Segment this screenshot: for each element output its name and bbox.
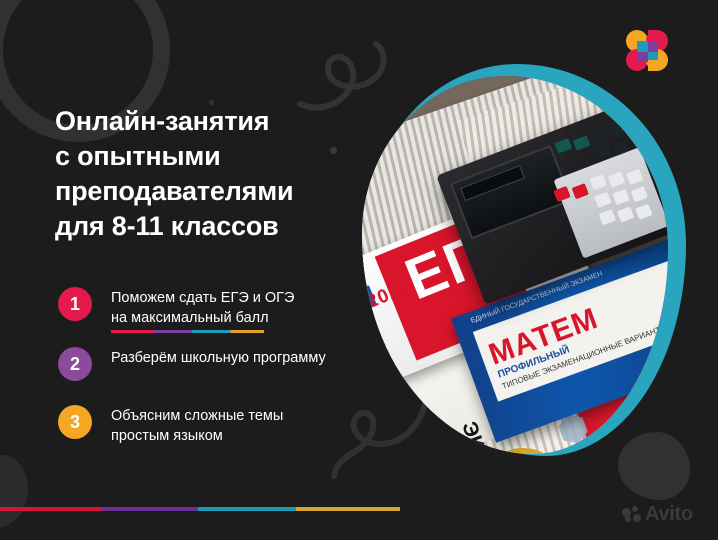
feature-badge-2: 2 — [58, 347, 92, 381]
advertisement-banner: ФИЗИКА ТИПО ЭКЗ 2023 ЕГЭ 36 — [0, 0, 718, 540]
headline-line-1: Онлайн-занятия — [55, 104, 365, 139]
avito-watermark: Avito — [622, 503, 693, 526]
feature-item-1: 1 Поможем сдать ЕГЭ и ОГЭ на максимальны… — [58, 286, 388, 328]
calculator-key — [554, 138, 572, 154]
feature-item-2: 2 Разберём школьную программу — [58, 346, 388, 386]
feature-text-1: Поможем сдать ЕГЭ и ОГЭ на максимальный … — [111, 286, 294, 328]
feature-underline-accent — [111, 330, 264, 333]
headline-line-3: преподавателями — [55, 174, 365, 209]
calculator-key — [609, 124, 626, 140]
feature-text-1-line-1: Поможем сдать ЕГЭ и ОГЭ — [111, 288, 294, 308]
feature-text-3: Объясним сложные темы простым языком — [111, 404, 283, 446]
feature-badge-1: 1 — [58, 287, 92, 321]
calculator-key — [591, 127, 608, 143]
brand-logo-icon — [624, 28, 672, 74]
feature-text-2: Разберём школьную программу — [111, 346, 326, 368]
headline: Онлайн-занятия с опытными преподавателям… — [55, 104, 365, 244]
feature-text-3-line-2: простым языком — [111, 426, 283, 446]
calculator-key — [573, 135, 591, 151]
feature-text-2-line-1: Разберём школьную программу — [111, 348, 326, 368]
feature-item-3: 3 Объясним сложные темы простым языком — [58, 404, 388, 446]
avito-dots-icon — [622, 506, 642, 523]
hero-photo: ФИЗИКА ТИПО ЭКЗ 2023 ЕГЭ 36 — [362, 62, 692, 462]
headline-line-2: с опытными — [55, 139, 365, 174]
feature-badge-3: 3 — [58, 405, 92, 439]
feature-number-3: 3 — [70, 412, 80, 433]
headline-line-4: для 8-11 классов — [55, 209, 365, 244]
accent-bar — [0, 507, 400, 511]
feature-list: 1 Поможем сдать ЕГЭ и ОГЭ на максимальны… — [58, 286, 388, 464]
calculator-key — [594, 142, 611, 158]
photo-clip: ФИЗИКА ТИПО ЭКЗ 2023 ЕГЭ 36 — [362, 76, 668, 454]
feature-number-2: 2 — [70, 354, 80, 375]
avito-wordmark: Avito — [645, 503, 693, 526]
feature-text-1-line-2: на максимальный балл — [111, 308, 294, 328]
feature-number-1: 1 — [70, 294, 80, 315]
blob-decoration-left — [0, 455, 28, 527]
feature-text-3-line-1: Объясним сложные темы — [111, 406, 283, 426]
